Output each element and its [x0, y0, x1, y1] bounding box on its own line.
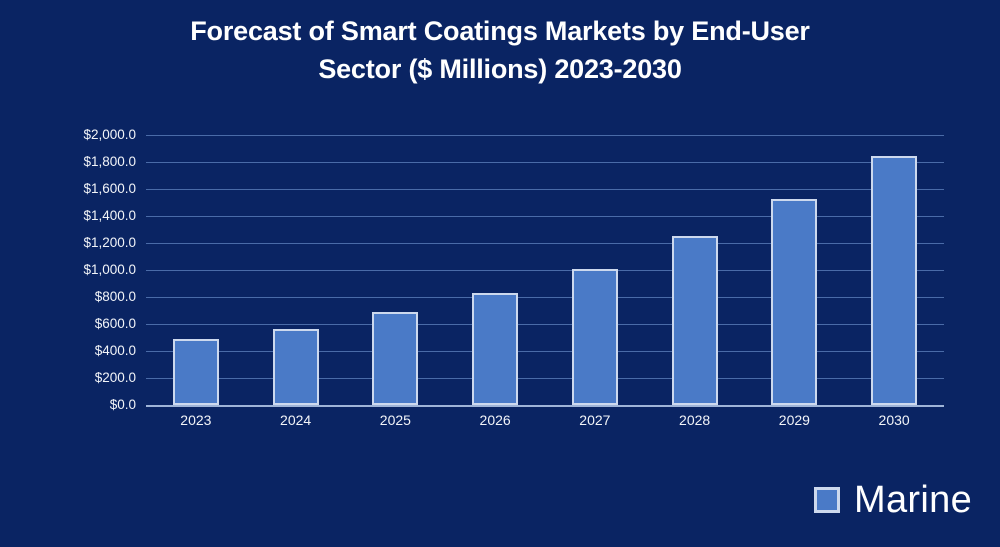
x-axis: 20232024202520262027202820292030	[146, 412, 944, 428]
plot-area: $2,000.0$1,800.0$1,600.0$1,400.0$1,200.0…	[0, 0, 1000, 547]
bar-2030[interactable]	[871, 156, 917, 405]
bar-2029[interactable]	[771, 199, 817, 405]
y-axis-tick-label: $800.0	[40, 290, 136, 304]
y-axis-tick-label: $1,000.0	[40, 263, 136, 277]
bar-slot	[346, 135, 446, 405]
bar-2028[interactable]	[672, 236, 718, 405]
y-axis-tick-label: $600.0	[40, 317, 136, 331]
chart-legend: Marine	[814, 481, 972, 519]
bar-slot	[645, 135, 745, 405]
x-axis-tick-label: 2023	[146, 412, 246, 428]
bar-2025[interactable]	[372, 312, 418, 405]
x-axis-tick-label: 2029	[745, 412, 845, 428]
bar-2026[interactable]	[472, 293, 518, 405]
bar-2023[interactable]	[173, 339, 219, 405]
x-axis-tick-label: 2025	[346, 412, 446, 428]
bar-slot	[246, 135, 346, 405]
x-axis-tick-label: 2027	[545, 412, 645, 428]
bar-2024[interactable]	[273, 329, 319, 405]
x-axis-tick-label: 2028	[645, 412, 745, 428]
x-axis-tick-label: 2030	[844, 412, 944, 428]
y-axis-tick-label: $1,800.0	[40, 155, 136, 169]
y-axis-tick-label: $1,400.0	[40, 209, 136, 223]
y-axis-tick-label: $400.0	[40, 344, 136, 358]
bar-slot	[745, 135, 845, 405]
bar-series-marine	[146, 135, 944, 405]
bar-slot	[844, 135, 944, 405]
y-axis-tick-label: $0.0	[40, 398, 136, 412]
bar-slot	[445, 135, 545, 405]
legend-label-marine: Marine	[854, 481, 972, 519]
bar-slot	[545, 135, 645, 405]
axis-baseline	[146, 405, 944, 407]
y-axis-tick-label: $200.0	[40, 371, 136, 385]
x-axis-tick-label: 2024	[246, 412, 346, 428]
y-axis-tick-label: $1,200.0	[40, 236, 136, 250]
legend-swatch-marine	[814, 487, 840, 513]
bar-slot	[146, 135, 246, 405]
bar-2027[interactable]	[572, 269, 618, 405]
x-axis-tick-label: 2026	[445, 412, 545, 428]
y-axis: $2,000.0$1,800.0$1,600.0$1,400.0$1,200.0…	[40, 128, 136, 412]
y-axis-tick-label: $1,600.0	[40, 182, 136, 196]
chart-container: Forecast of Smart Coatings Markets by En…	[0, 0, 1000, 547]
y-axis-tick-label: $2,000.0	[40, 128, 136, 142]
